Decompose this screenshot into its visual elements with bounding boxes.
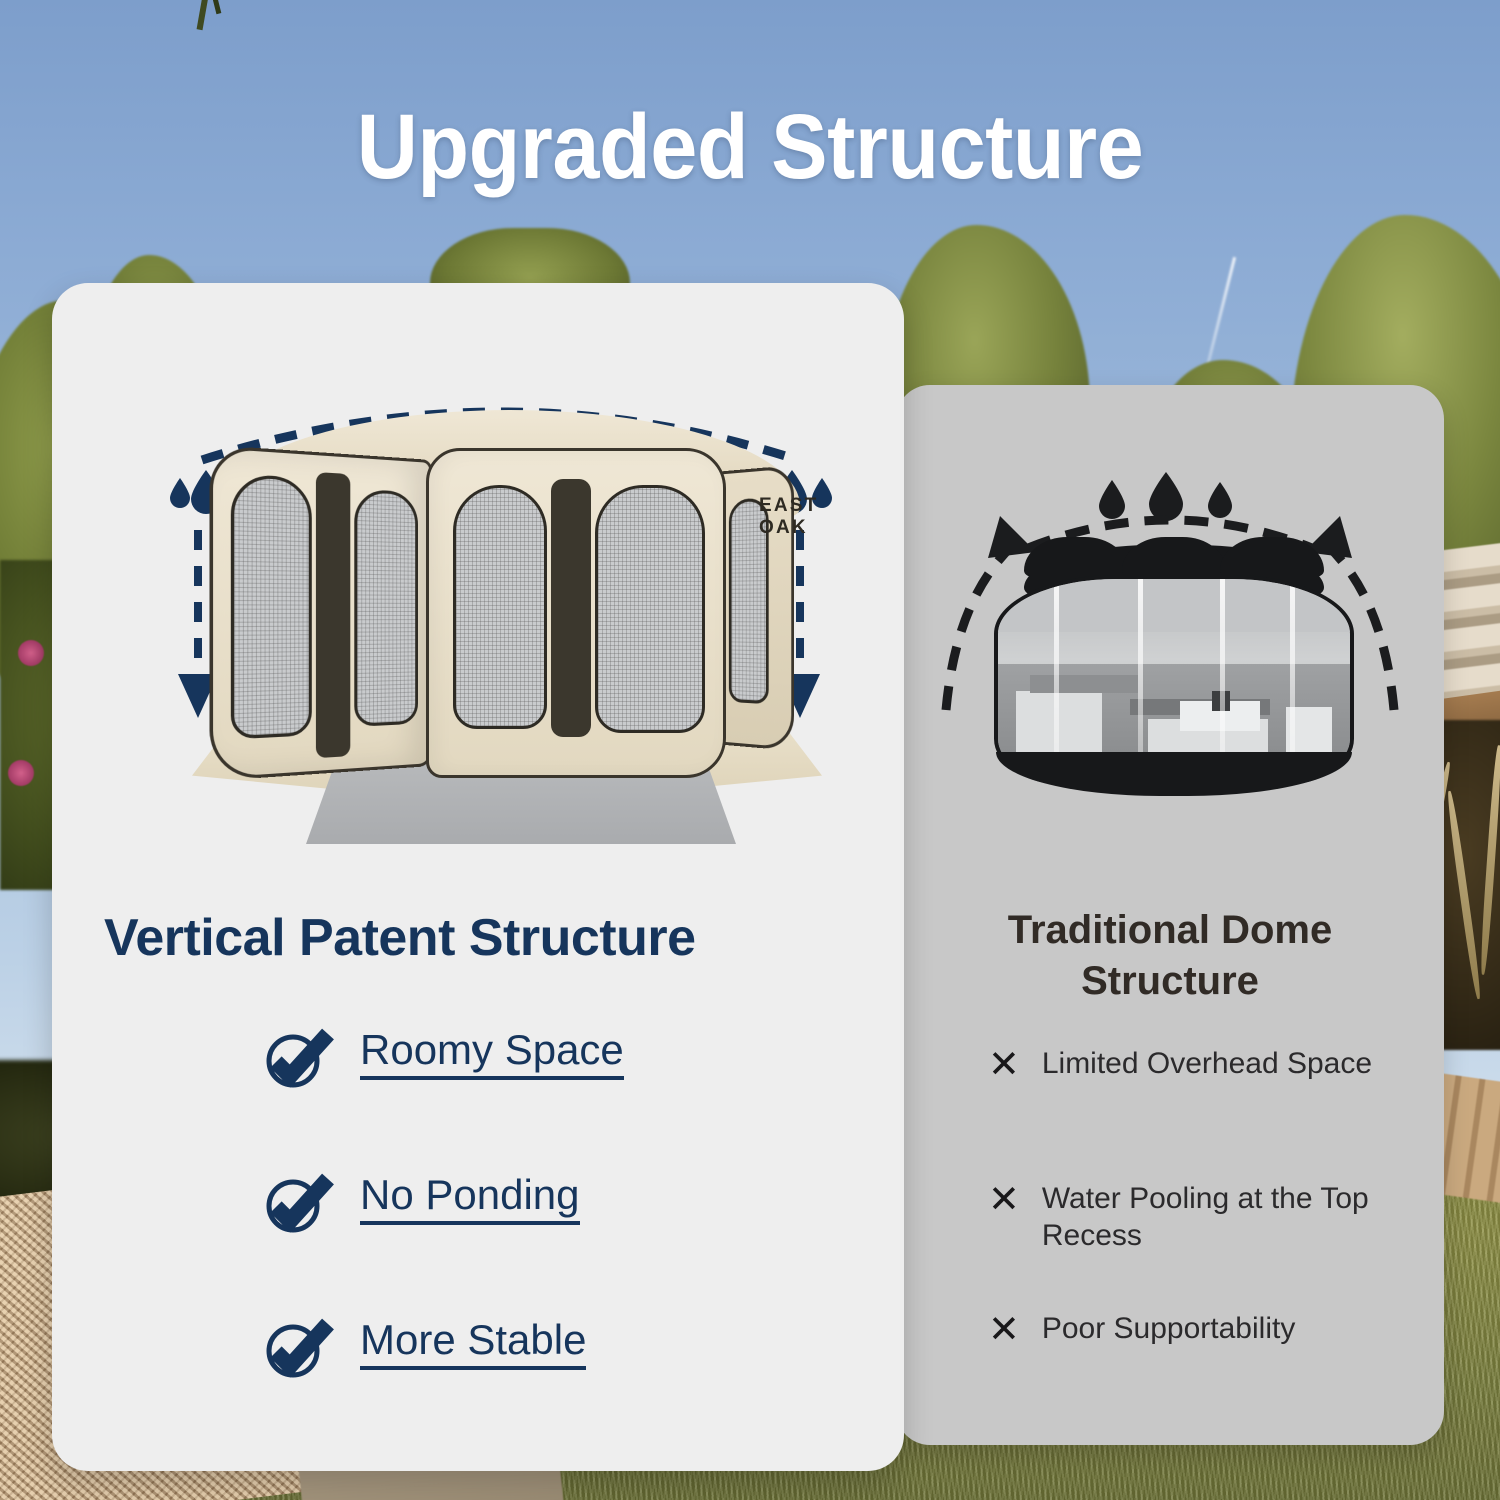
mesh-window: [231, 473, 312, 739]
mesh-window: [595, 485, 705, 733]
drawback-label: Water Pooling at the Top Recess: [1042, 1180, 1432, 1254]
vertical-patent-heading: Vertical Patent Structure: [104, 908, 864, 968]
x-mark-icon: ✕: [988, 1310, 1020, 1348]
check-circle-icon: [262, 1318, 334, 1380]
heading-line-1: Traditional Dome: [920, 905, 1420, 956]
x-mark-icon: ✕: [988, 1180, 1020, 1218]
tent-panel-front: EAST OAK: [426, 448, 726, 778]
tent-corner-pole: [316, 472, 350, 758]
heading-line-2: Structure: [920, 956, 1420, 1007]
feature-item-more-stable: More Stable: [262, 1318, 586, 1380]
feature-item-roomy-space: Roomy Space: [262, 1028, 624, 1090]
feature-item-no-ponding: No Ponding: [262, 1173, 580, 1235]
flower: [8, 760, 34, 786]
tent-center-pole: [551, 479, 591, 737]
vertical-patent-structure-card: EAST OAK Vertical Patent Structure Roomy…: [52, 283, 904, 1471]
check-circle-icon: [262, 1173, 334, 1235]
dome-tent-illustration: [916, 470, 1424, 870]
traditional-dome-heading: Traditional Dome Structure: [920, 905, 1420, 1007]
feature-label: No Ponding: [360, 1173, 580, 1225]
drawback-item-poor-supportability: ✕ Poor Supportability: [988, 1310, 1295, 1348]
check-circle-icon: [262, 1028, 334, 1090]
tent-body: EAST OAK: [214, 448, 806, 788]
drawback-item-water-pooling: ✕ Water Pooling at the Top Recess: [988, 1180, 1432, 1254]
flower: [18, 640, 44, 666]
vertical-tent-illustration: EAST OAK: [162, 378, 862, 858]
x-mark-icon: ✕: [988, 1045, 1020, 1083]
page-title: Upgraded Structure: [60, 95, 1440, 200]
drawback-label: Poor Supportability: [1042, 1310, 1295, 1347]
water-drop-icon: [1099, 472, 1232, 521]
drawback-item-limited-overhead-space: ✕ Limited Overhead Space: [988, 1045, 1372, 1083]
traditional-dome-card: Traditional Dome Structure ✕ Limited Ove…: [896, 385, 1444, 1445]
dome-interior-scene: [998, 579, 1350, 781]
mesh-window: [354, 489, 418, 727]
feature-label: Roomy Space: [360, 1028, 624, 1080]
feature-label: More Stable: [360, 1318, 586, 1370]
brand-logo: EAST OAK: [759, 495, 818, 539]
arrow-head-left-icon: [988, 516, 1036, 558]
mesh-window: [453, 485, 547, 729]
tent-panel-left: [210, 445, 432, 782]
drawback-label: Limited Overhead Space: [1042, 1045, 1372, 1082]
